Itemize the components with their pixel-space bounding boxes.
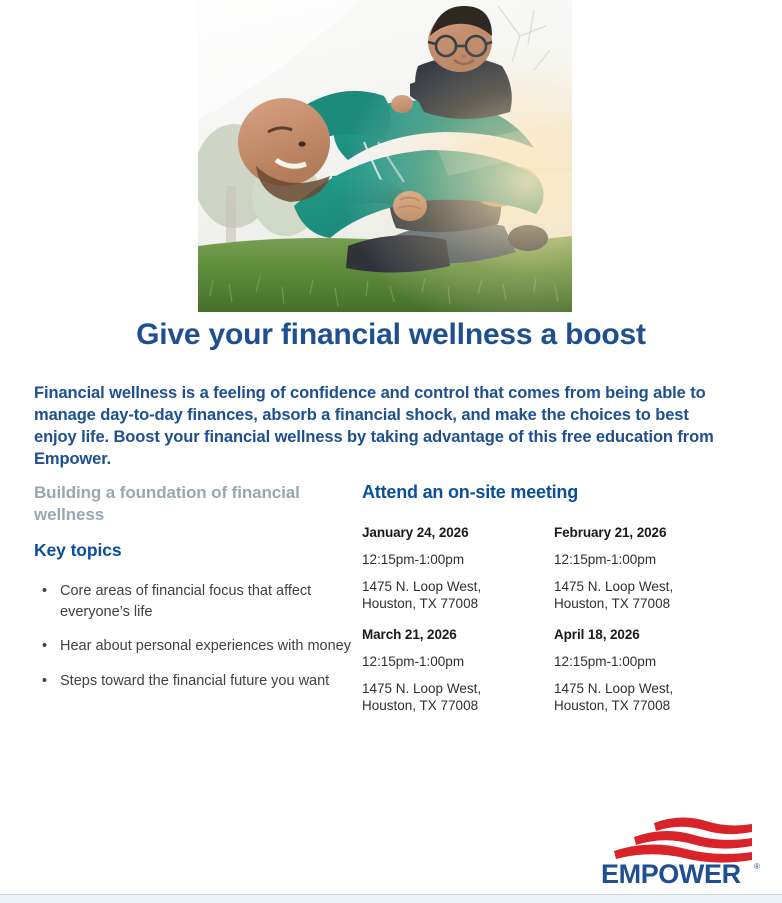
- meeting-address: 1475 N. Loop West, Houston, TX 77008: [554, 681, 728, 715]
- bullet-icon: •: [42, 671, 47, 692]
- intro-paragraph: Financial wellness is a feeling of confi…: [34, 383, 734, 471]
- meeting-address-line2: Houston, TX 77008: [554, 698, 728, 715]
- list-item-label: Hear about personal experiences with mon…: [60, 638, 351, 654]
- empower-logo: EMPOWER ®: [594, 815, 764, 887]
- left-column: Building a foundation of financial welln…: [0, 482, 356, 706]
- bottom-band: [0, 894, 782, 903]
- meeting-time: 12:15pm-1:00pm: [554, 654, 728, 669]
- meeting-date: January 24, 2026: [362, 525, 536, 540]
- list-item-label: Core areas of financial focus that affec…: [60, 583, 311, 620]
- list-item-label: Steps toward the financial future you wa…: [60, 673, 329, 689]
- meeting-address-line1: 1475 N. Loop West,: [554, 681, 728, 698]
- list-item: • Core areas of financial focus that aff…: [34, 581, 356, 622]
- meeting-card: January 24, 2026 12:15pm-1:00pm 1475 N. …: [362, 525, 554, 613]
- hero-photo: [198, 0, 572, 312]
- meeting-time: 12:15pm-1:00pm: [362, 654, 536, 669]
- meeting-address-line1: 1475 N. Loop West,: [554, 579, 728, 596]
- bullet-icon: •: [42, 581, 47, 602]
- meeting-address: 1475 N. Loop West, Houston, TX 77008: [362, 681, 536, 715]
- empower-wave-logo: EMPOWER ®: [594, 815, 764, 887]
- attend-meeting-heading: Attend an on-site meeting: [362, 482, 746, 503]
- meeting-address-line2: Houston, TX 77008: [362, 698, 536, 715]
- meeting-address-line1: 1475 N. Loop West,: [362, 681, 536, 698]
- meeting-time: 12:15pm-1:00pm: [554, 552, 728, 567]
- meeting-address-line2: Houston, TX 77008: [554, 596, 728, 613]
- meeting-address: 1475 N. Loop West, Houston, TX 77008: [554, 579, 728, 613]
- meetings-grid: January 24, 2026 12:15pm-1:00pm 1475 N. …: [362, 525, 746, 729]
- meeting-card: March 21, 2026 12:15pm-1:00pm 1475 N. Lo…: [362, 627, 554, 715]
- flyer-page: Give your financial wellness a boost Fin…: [0, 0, 782, 903]
- key-topics-heading: Key topics: [34, 540, 356, 561]
- family-playing-photo: [198, 0, 572, 312]
- page-title: Give your financial wellness a boost: [0, 318, 782, 352]
- content-columns: Building a foundation of financial welln…: [0, 482, 782, 729]
- meeting-date: April 18, 2026: [554, 627, 728, 642]
- meeting-card: February 21, 2026 12:15pm-1:00pm 1475 N.…: [554, 525, 746, 613]
- meeting-address-line2: Houston, TX 77008: [362, 596, 536, 613]
- registered-trademark-icon: ®: [754, 862, 760, 871]
- meeting-time: 12:15pm-1:00pm: [362, 552, 536, 567]
- meeting-date: February 21, 2026: [554, 525, 728, 540]
- list-item: • Hear about personal experiences with m…: [34, 636, 356, 657]
- bullet-icon: •: [42, 636, 47, 657]
- meeting-date: March 21, 2026: [362, 627, 536, 642]
- left-column-kicker: Building a foundation of financial welln…: [34, 482, 356, 526]
- empower-wordmark: EMPOWER: [601, 859, 741, 887]
- right-column: Attend an on-site meeting January 24, 20…: [356, 482, 746, 729]
- meeting-address: 1475 N. Loop West, Houston, TX 77008: [362, 579, 536, 613]
- meeting-address-line1: 1475 N. Loop West,: [362, 579, 536, 596]
- key-topics-list: • Core areas of financial focus that aff…: [34, 581, 356, 691]
- wave-stripes-icon: [614, 817, 752, 862]
- meeting-card: April 18, 2026 12:15pm-1:00pm 1475 N. Lo…: [554, 627, 746, 715]
- list-item: • Steps toward the financial future you …: [34, 671, 356, 692]
